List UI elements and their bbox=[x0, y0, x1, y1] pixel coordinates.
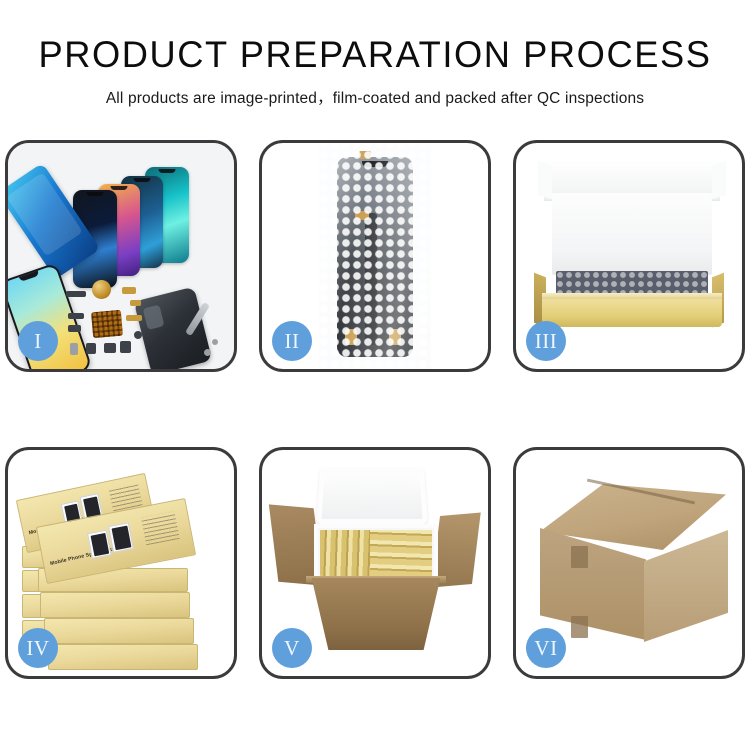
component-icon bbox=[126, 315, 142, 321]
kraft-box-front bbox=[542, 299, 722, 327]
component-icon bbox=[212, 339, 218, 345]
component-icon bbox=[134, 331, 142, 339]
page-title: PRODUCT PREPARATION PROCESS bbox=[8, 36, 743, 75]
step-badge-6: VI bbox=[526, 628, 566, 668]
step-badge-2: II bbox=[272, 321, 312, 361]
step-badge-1: I bbox=[18, 321, 58, 361]
carton-body bbox=[306, 578, 446, 650]
page-subtitle: All products are image-printed，film-coat… bbox=[0, 86, 750, 108]
chip-board-icon bbox=[91, 310, 123, 339]
carton-tape-icon bbox=[571, 616, 588, 638]
process-step-panel-6[interactable]: VI bbox=[513, 447, 745, 679]
plastic-sheen bbox=[319, 143, 431, 369]
page-header: PRODUCT PREPARATION PROCESS All products… bbox=[0, 0, 750, 108]
packed-retail-boxes bbox=[370, 530, 432, 576]
step-badge-4: IV bbox=[18, 628, 58, 668]
process-step-panel-1[interactable]: I bbox=[5, 140, 237, 372]
component-icon bbox=[104, 343, 116, 353]
foam-lid-icon bbox=[316, 468, 428, 524]
spec-text-block bbox=[141, 511, 180, 545]
bubble-wrap-bag bbox=[319, 143, 431, 369]
product-photo-icon bbox=[87, 530, 112, 559]
component-icon bbox=[122, 287, 136, 294]
carton-tape-icon bbox=[571, 546, 588, 568]
product-photo-icon bbox=[108, 522, 134, 553]
retail-box bbox=[40, 592, 190, 618]
process-step-panel-4[interactable]: Mobile Phone Spare Parts Mobile Phone Sp… bbox=[5, 447, 237, 679]
step-badge-5: V bbox=[272, 628, 312, 668]
component-icon bbox=[86, 343, 96, 354]
process-step-panel-3[interactable]: III bbox=[513, 140, 745, 372]
step-badge-3: III bbox=[526, 321, 566, 361]
component-icon bbox=[130, 300, 141, 306]
process-step-panel-5[interactable]: V bbox=[259, 447, 491, 679]
retail-box bbox=[48, 644, 198, 670]
component-icon bbox=[68, 313, 84, 319]
process-step-grid: I II III bbox=[0, 140, 750, 679]
component-icon bbox=[66, 291, 86, 297]
vibration-motor-icon bbox=[92, 280, 111, 299]
component-icon bbox=[120, 341, 131, 353]
process-step-panel-2[interactable]: II bbox=[259, 140, 491, 372]
component-icon bbox=[204, 349, 211, 356]
component-icon bbox=[70, 343, 78, 355]
component-icon bbox=[68, 325, 81, 332]
foam-sheet-icon bbox=[552, 193, 712, 275]
retail-box bbox=[44, 618, 194, 644]
